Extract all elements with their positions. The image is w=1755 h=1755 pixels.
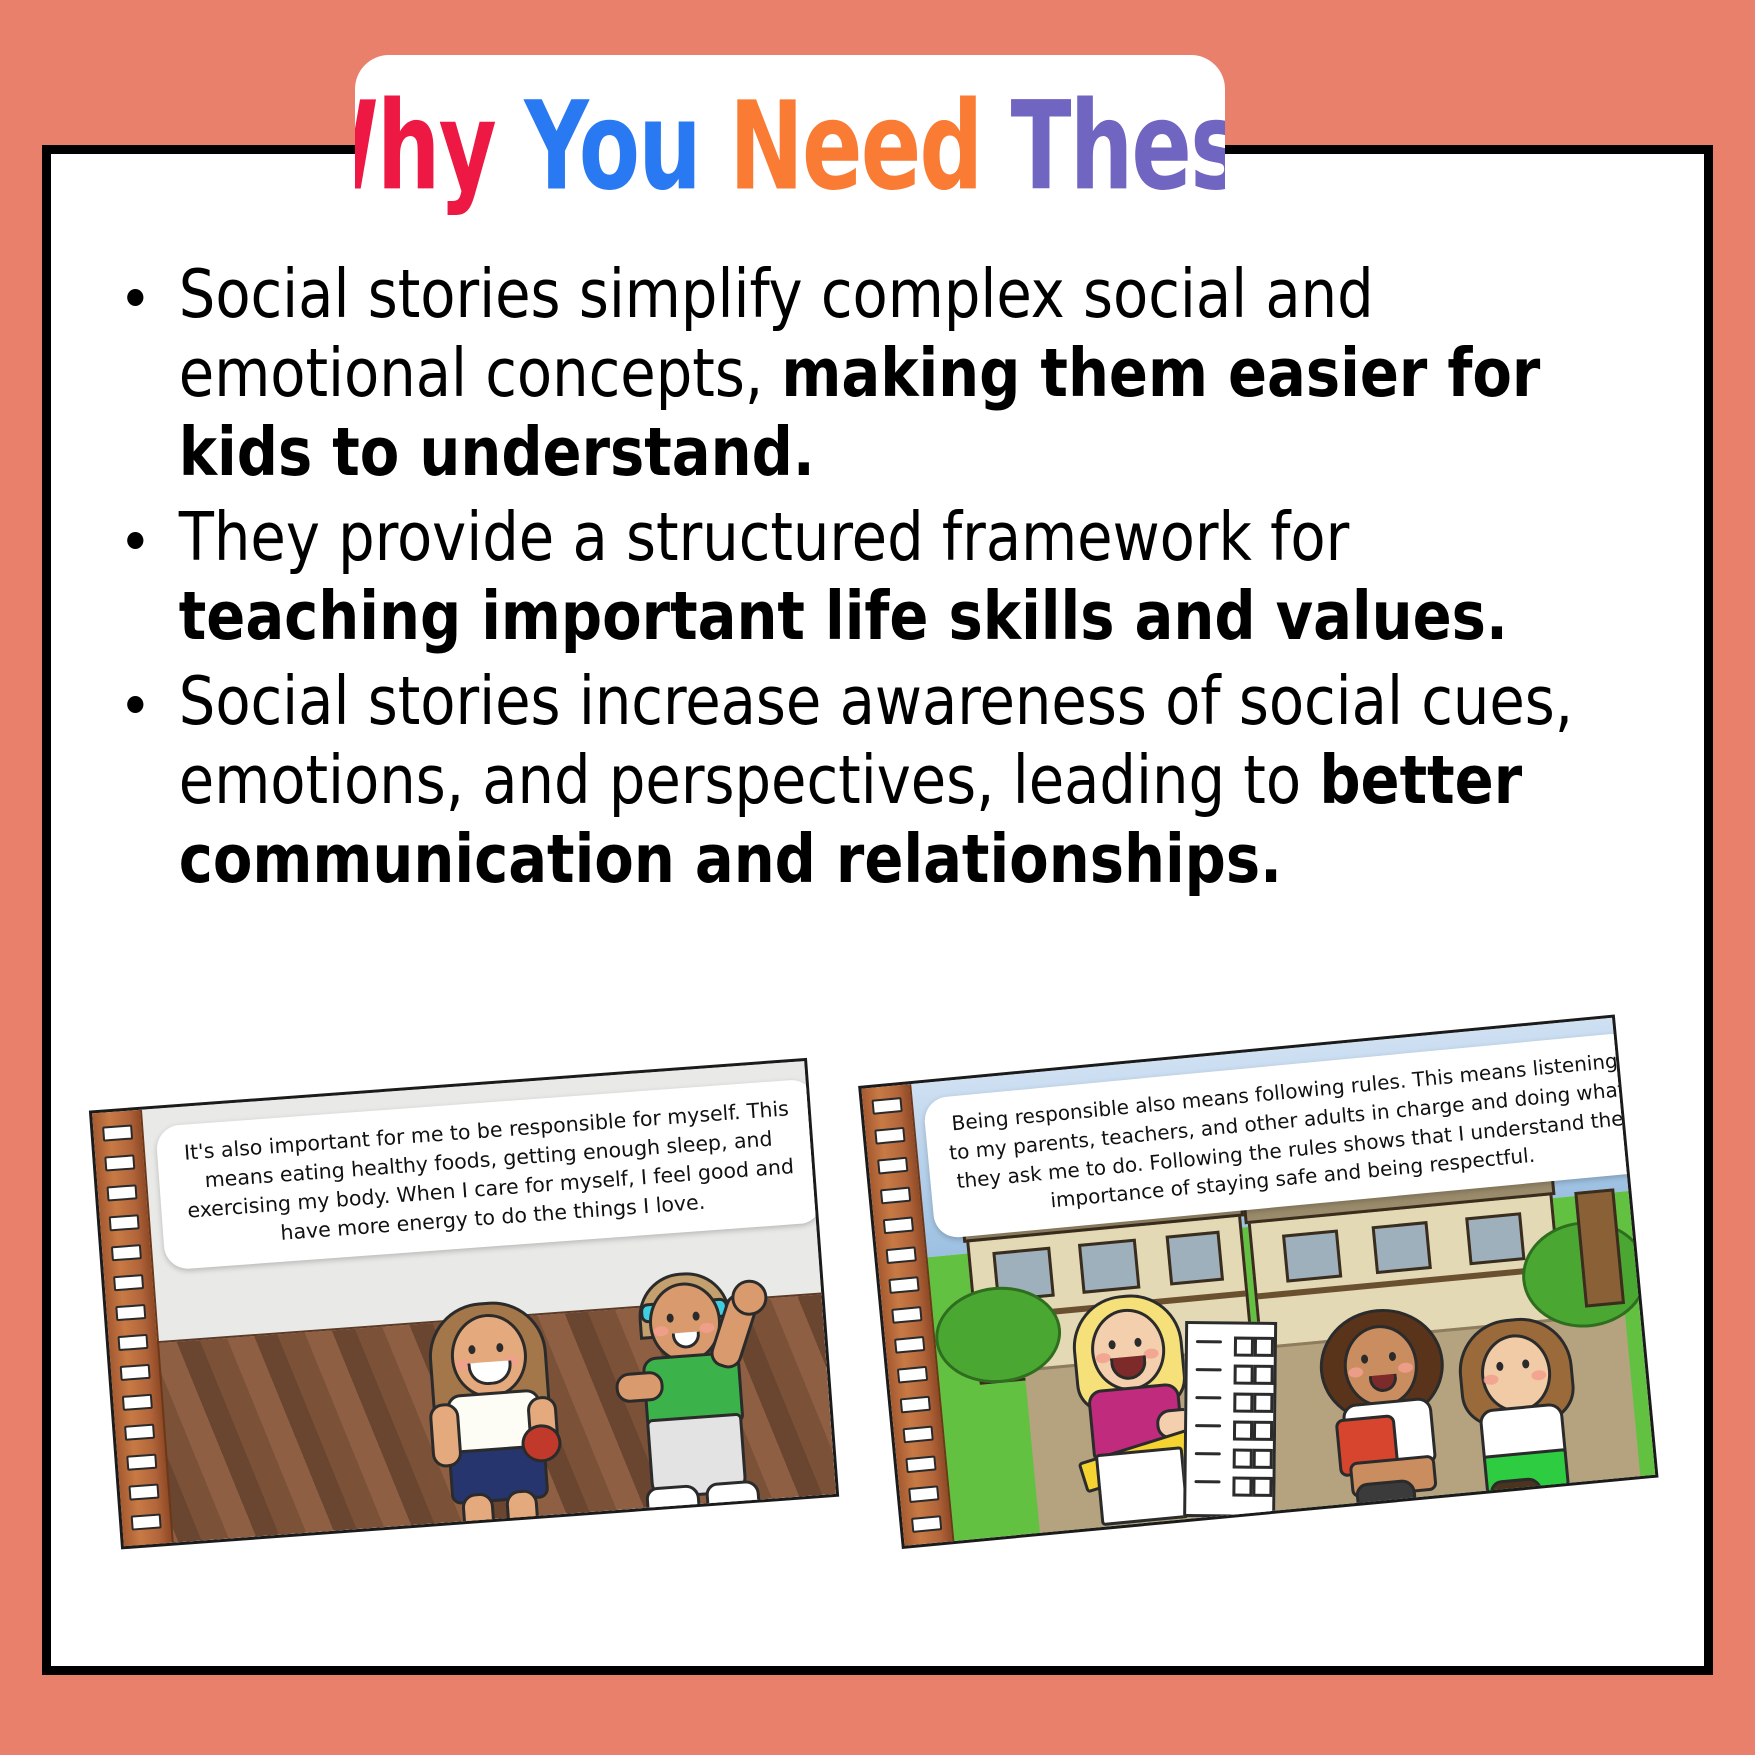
window bbox=[1282, 1230, 1342, 1283]
rules-checklist bbox=[1183, 1321, 1277, 1518]
character-seated-pigtails bbox=[1446, 1312, 1602, 1499]
title-word-you: You bbox=[524, 75, 700, 215]
window bbox=[1465, 1212, 1525, 1265]
bullet-text-bold: teaching important life skills and value… bbox=[179, 577, 1508, 655]
book-page-left: It's also important for me to be respons… bbox=[89, 1058, 839, 1550]
bullet-text-normal: They provide a structured framework for bbox=[179, 498, 1350, 576]
title-word-need: Need bbox=[729, 75, 981, 215]
character-blonde-with-checklist bbox=[1052, 1286, 1242, 1526]
benefits-list: Social stories simplify complex social a… bbox=[110, 255, 1670, 905]
window bbox=[1166, 1231, 1224, 1286]
book-page-surface: Being responsible also means following r… bbox=[858, 1015, 1658, 1549]
arm-left bbox=[428, 1402, 463, 1468]
white-pants bbox=[1095, 1446, 1189, 1526]
window bbox=[1078, 1239, 1140, 1294]
page-title: Why You Need These bbox=[355, 55, 1225, 211]
list-item: Social stories increase awareness of soc… bbox=[110, 662, 1600, 899]
character-girl-with-apple bbox=[407, 1295, 573, 1530]
title-tab: Why You Need These bbox=[355, 55, 1225, 215]
book-page-surface: It's also important for me to be respons… bbox=[89, 1058, 839, 1550]
list-item: They provide a structured framework for … bbox=[110, 498, 1600, 656]
title-word-these: These bbox=[1010, 75, 1225, 215]
arm-left bbox=[615, 1370, 665, 1403]
list-item: Social stories simplify complex social a… bbox=[110, 255, 1600, 492]
book-page-right: Being responsible also means following r… bbox=[858, 1015, 1658, 1549]
character-boy-stretching bbox=[605, 1253, 803, 1516]
title-word-why: Why bbox=[355, 75, 495, 215]
window bbox=[1372, 1221, 1432, 1274]
